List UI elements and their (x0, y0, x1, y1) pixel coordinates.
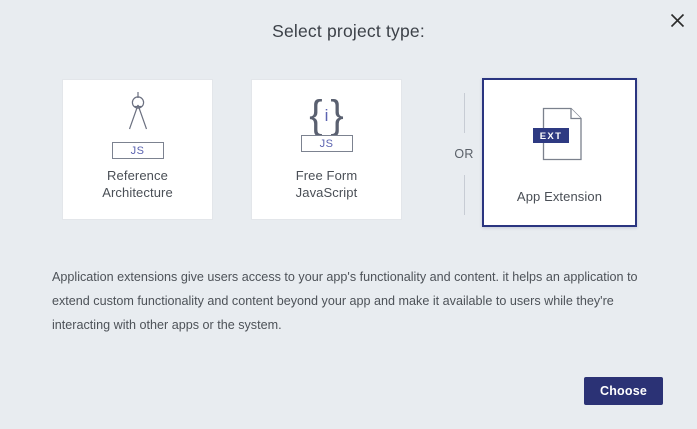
choose-button[interactable]: Choose (584, 377, 663, 405)
card-label-line2: JavaScript (296, 184, 358, 201)
braces-glyphs: { i } (309, 98, 344, 132)
document-ext-icon: EXT (484, 98, 635, 170)
card-reference-architecture[interactable]: JS Reference Architecture (62, 79, 213, 220)
card-label: App Extension (517, 188, 602, 205)
card-label-line1: App Extension (517, 188, 602, 205)
divider-line-bottom (464, 175, 465, 215)
card-label-line1: Reference (102, 167, 173, 184)
page-title: Select project type: (0, 21, 697, 42)
compass-divider-icon: JS (63, 90, 212, 160)
card-label: Reference Architecture (102, 167, 173, 201)
js-chip: JS (301, 135, 353, 152)
card-free-form-javascript[interactable]: { i } JS Free Form JavaScript (251, 79, 402, 220)
brace-letter: i (325, 99, 329, 133)
svg-text:EXT: EXT (539, 131, 561, 142)
or-label: OR (454, 147, 473, 161)
card-app-extension[interactable]: EXT App Extension (482, 78, 637, 227)
card-label-line2: Architecture (102, 184, 173, 201)
description-text: Application extensions give users access… (52, 265, 650, 337)
card-label: Free Form JavaScript (296, 167, 358, 201)
or-divider: OR (444, 93, 484, 215)
curly-braces-icon: { i } JS (252, 90, 401, 160)
brace-open: { (309, 98, 322, 132)
project-type-options: JS Reference Architecture { i } JS Free … (62, 79, 637, 229)
brace-close: } (330, 98, 343, 132)
divider-line-top (464, 93, 465, 133)
js-chip: JS (112, 142, 164, 159)
card-label-line1: Free Form (296, 167, 358, 184)
